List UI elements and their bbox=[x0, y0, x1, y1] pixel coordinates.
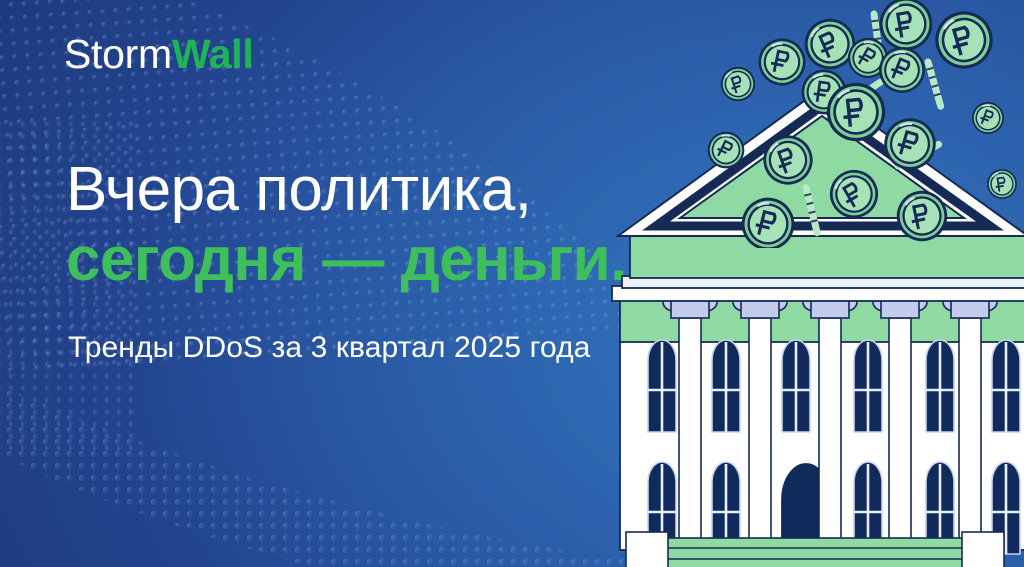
coin-group bbox=[703, 0, 1018, 248]
stormwall-promo-banner: StormWall Вчера политика, сегодня — день… bbox=[0, 0, 1024, 567]
falling-ruble-coins bbox=[702, 0, 1024, 248]
columns bbox=[663, 290, 997, 553]
headline-line-1: Вчера политика, bbox=[66, 158, 706, 222]
main-entrance-door bbox=[782, 464, 830, 560]
entrance-steps bbox=[626, 532, 1004, 567]
headline: Вчера политика, сегодня — деньги. bbox=[66, 158, 706, 293]
logo-text-storm: Storm bbox=[64, 31, 172, 77]
stormwall-logo[interactable]: StormWall bbox=[64, 34, 253, 75]
headline-line-2: сегодня — деньги. bbox=[66, 228, 706, 292]
windows-lower-row bbox=[648, 462, 1020, 554]
building-body bbox=[620, 300, 1024, 560]
windows-upper-row bbox=[648, 340, 1020, 432]
logo-text-wall: Wall bbox=[172, 31, 254, 77]
halftone-dot-wave-bottom bbox=[0, 330, 930, 567]
subtitle: Тренды DDoS за 3 квартал 2025 года bbox=[68, 331, 590, 365]
